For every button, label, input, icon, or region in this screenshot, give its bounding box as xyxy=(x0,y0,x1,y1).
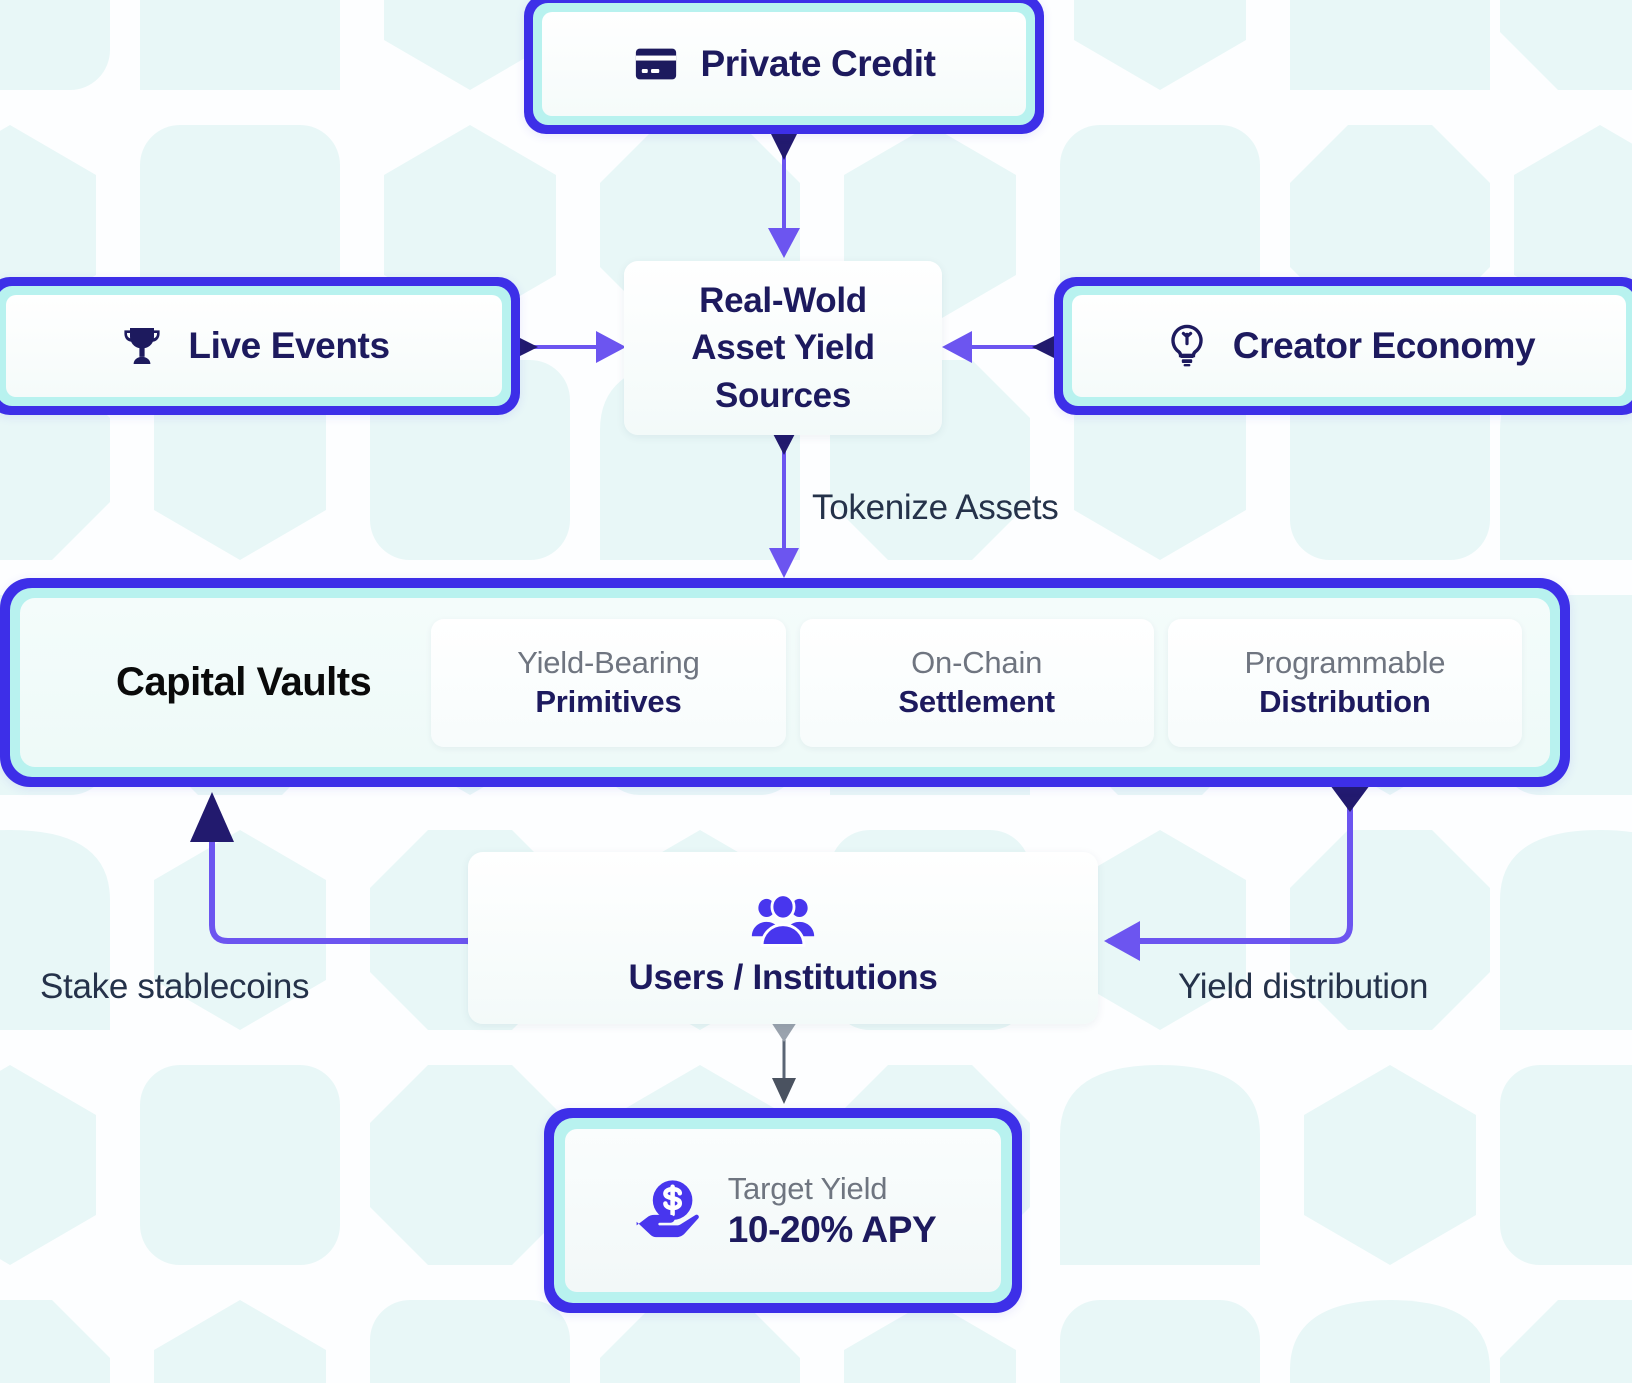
vault-card-on-chain-settlement[interactable]: On-Chain Settlement xyxy=(800,619,1154,747)
node-label-line-1: Real-Wold xyxy=(691,277,874,325)
node-creator-economy[interactable]: Creator Economy xyxy=(1054,277,1632,415)
vault-card-top-label: On-Chain xyxy=(911,645,1042,681)
node-label-line-3: Sources xyxy=(691,372,874,420)
trophy-icon xyxy=(118,322,166,370)
lightbulb-icon xyxy=(1163,322,1211,370)
node-users-institutions[interactable]: Users / Institutions xyxy=(468,852,1098,1024)
edge-creator-economy-to-rwa xyxy=(942,331,1060,363)
node-live-events[interactable]: Live Events xyxy=(0,277,520,415)
vault-card-bottom-label: Settlement xyxy=(898,684,1054,720)
vault-card-top-label: Yield-Bearing xyxy=(517,645,699,681)
vault-card-bottom-label: Distribution xyxy=(1259,684,1431,720)
diagram-canvas: Tokenize Assets Stake stablecoins Yield … xyxy=(0,0,1632,1383)
node-outer-ring: Live Events xyxy=(0,277,520,415)
node-card: Live Events xyxy=(6,295,502,397)
node-card: Target Yield 10-20% APY xyxy=(565,1129,1001,1292)
target-yield-value: 10-20% APY xyxy=(728,1209,937,1251)
users-group-icon xyxy=(749,892,817,950)
node-inner-ring: Live Events xyxy=(0,286,511,406)
vault-card-top-label: Programmable xyxy=(1244,645,1445,681)
edge-private-credit-to-rwa xyxy=(768,132,800,258)
node-private-credit[interactable]: Private Credit xyxy=(524,0,1044,134)
node-label: Users / Institutions xyxy=(628,958,937,998)
node-outer-ring: Target Yield 10-20% APY xyxy=(544,1108,1022,1313)
node-card: Real-Wold Asset Yield Sources xyxy=(624,261,942,435)
node-outer-ring: Capital Vaults Yield-Bearing Primitives … xyxy=(0,578,1570,787)
target-yield-label: Target Yield xyxy=(728,1171,937,1207)
node-label-line-2: Asset Yield xyxy=(691,324,874,372)
edge-label-stake-stablecoins: Stake stablecoins xyxy=(40,967,309,1007)
node-card: Creator Economy xyxy=(1072,295,1626,397)
node-outer-ring: Creator Economy xyxy=(1054,277,1632,415)
node-real-world-asset-yield-sources[interactable]: Real-Wold Asset Yield Sources xyxy=(624,261,942,435)
edge-label-tokenize-assets: Tokenize Assets xyxy=(812,488,1058,528)
capital-vaults-title: Capital Vaults xyxy=(116,660,371,705)
edge-capital-vaults-to-users xyxy=(1104,785,1370,961)
node-capital-vaults[interactable]: Capital Vaults Yield-Bearing Primitives … xyxy=(0,578,1570,787)
edge-rwa-to-capital-vaults xyxy=(769,428,799,578)
node-inner-ring: Target Yield 10-20% APY xyxy=(554,1118,1012,1303)
vault-card-yield-bearing-primitives[interactable]: Yield-Bearing Primitives xyxy=(431,619,785,747)
node-inner-ring: Private Credit xyxy=(533,3,1035,125)
node-card: Users / Institutions xyxy=(468,852,1098,1024)
node-inner-ring: Capital Vaults Yield-Bearing Primitives … xyxy=(10,588,1560,777)
node-label: Live Events xyxy=(188,325,389,367)
node-outer-ring: Private Credit xyxy=(524,0,1044,134)
edge-label-yield-distribution: Yield distribution xyxy=(1178,967,1428,1007)
capital-vaults-card-list: Yield-Bearing Primitives On-Chain Settle… xyxy=(431,619,1522,747)
edge-users-to-target-yield xyxy=(771,1022,797,1104)
credit-card-icon xyxy=(633,41,679,87)
edge-users-to-capital-vaults xyxy=(190,792,496,960)
vault-card-bottom-label: Primitives xyxy=(535,684,681,720)
hand-holding-dollar-icon xyxy=(630,1175,708,1247)
node-label: Creator Economy xyxy=(1233,325,1535,367)
edge-live-events-to-rwa xyxy=(510,331,626,363)
node-label: Private Credit xyxy=(701,43,936,85)
node-card: Private Credit xyxy=(542,12,1026,116)
node-target-yield[interactable]: Target Yield 10-20% APY xyxy=(544,1108,1022,1313)
node-inner-ring: Creator Economy xyxy=(1063,286,1632,406)
target-yield-texts: Target Yield 10-20% APY xyxy=(728,1171,937,1251)
vault-card-programmable-distribution[interactable]: Programmable Distribution xyxy=(1168,619,1522,747)
node-card: Capital Vaults Yield-Bearing Primitives … xyxy=(20,598,1550,767)
